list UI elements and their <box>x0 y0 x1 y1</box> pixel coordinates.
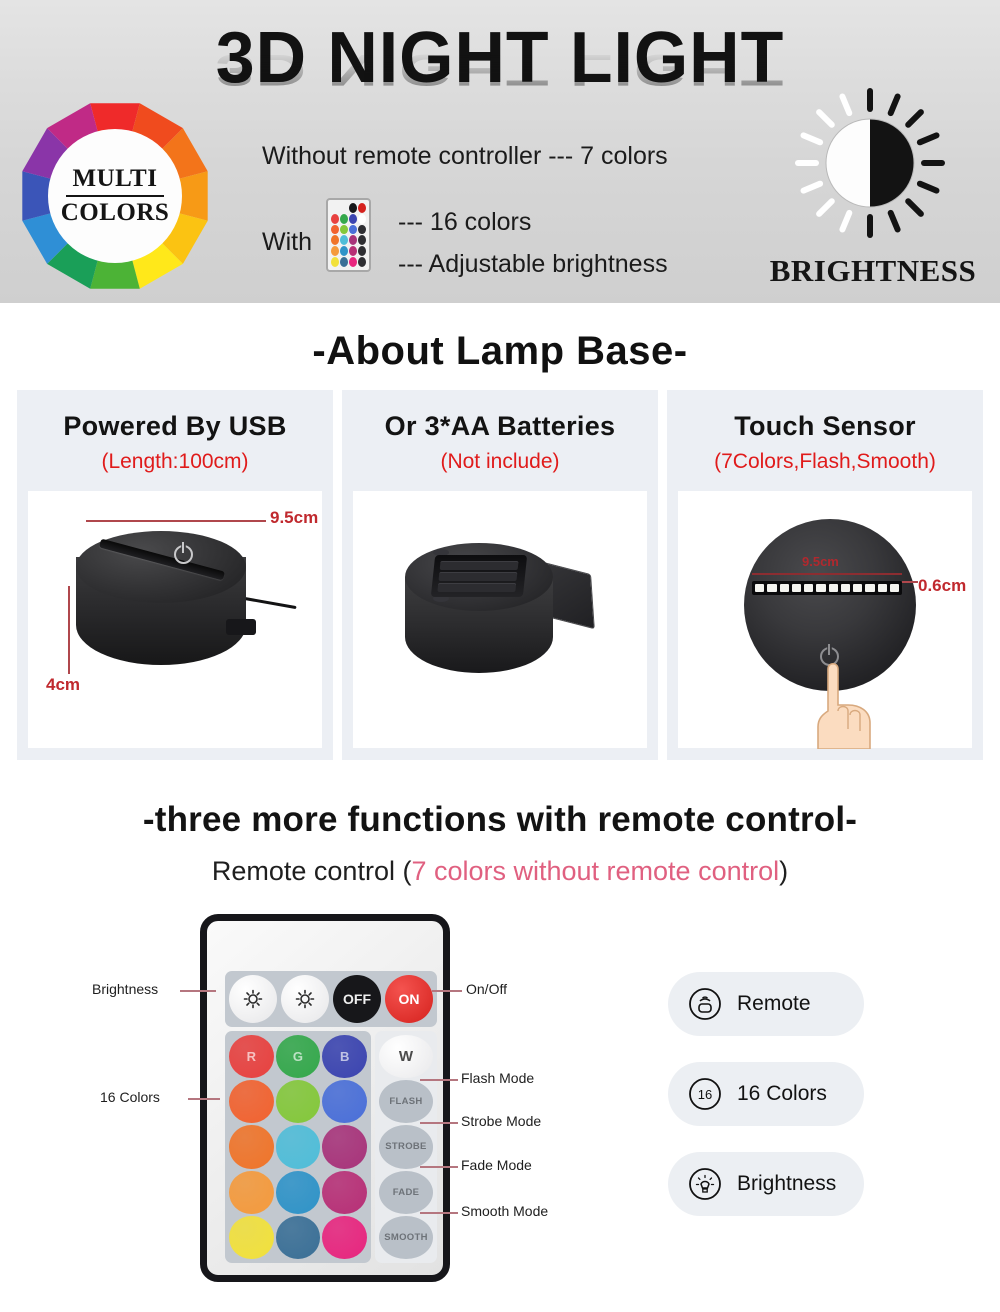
sixteen-circle-icon: 16 <box>688 1077 722 1111</box>
half-sun-brightness-icon <box>772 88 968 238</box>
color-button[interactable] <box>229 1216 274 1259</box>
callout-line <box>420 1079 458 1081</box>
sun-ray <box>920 184 937 191</box>
power-off-button[interactable]: OFF <box>333 975 381 1023</box>
battery-lamp-base-photo <box>353 491 647 748</box>
color-button[interactable]: B <box>322 1035 367 1078</box>
note-highlight: 7 colors without remote control <box>411 856 779 886</box>
callout-line <box>420 1166 458 1168</box>
battery-slot <box>440 561 519 570</box>
mini-remote-button <box>340 235 348 245</box>
note-suffix: ) <box>779 856 788 886</box>
note-prefix: Remote control ( <box>212 856 412 886</box>
button-label: ON <box>399 991 420 1007</box>
inner-width-label: 9.5cm <box>802 554 839 569</box>
color-button-label: B <box>340 1049 349 1064</box>
color-button[interactable] <box>276 1125 321 1168</box>
brightness-up-icon-glyph <box>242 988 264 1010</box>
three-more-functions-title: -three more functions with remote contro… <box>0 800 1000 840</box>
sun-ray <box>819 201 832 214</box>
mini-remote-button <box>331 225 339 235</box>
lamp-base-card-usb: Powered By USB (Length:100cm) 9.5cm 4cm <box>17 390 333 760</box>
color-button[interactable] <box>229 1125 274 1168</box>
brightness-word: BRIGHTNESS <box>758 253 988 289</box>
color-button[interactable] <box>276 1171 321 1214</box>
brightness-down-icon[interactable] <box>281 975 329 1023</box>
badge-line-2: COLORS <box>61 200 170 226</box>
button-label: STROBE <box>385 1141 426 1152</box>
remote-control-note: Remote control (7 colors without remote … <box>0 856 1000 887</box>
pill-label: Remote <box>737 992 811 1016</box>
brightness-up-icon[interactable] <box>229 975 277 1023</box>
card-heading: Powered By USB <box>63 411 286 442</box>
callout-fade-mode: Fade Mode <box>461 1157 532 1173</box>
led-segment <box>804 584 813 592</box>
color-button[interactable] <box>322 1171 367 1214</box>
width-dimension-label: 9.5cm <box>270 508 318 528</box>
mini-remote-button <box>358 225 366 235</box>
mini-remote-button <box>340 225 348 235</box>
mini-remote-button <box>349 203 357 213</box>
led-segment <box>755 584 764 592</box>
callout-line <box>432 990 462 992</box>
mini-remote-button <box>349 235 357 245</box>
color-button[interactable] <box>229 1171 274 1214</box>
height-dimension-label: 4cm <box>46 675 80 695</box>
sun-ray <box>804 135 821 142</box>
sun-ray <box>908 112 921 125</box>
led-segment <box>829 584 838 592</box>
mini-remote-button <box>331 214 339 224</box>
led-segment <box>878 584 887 592</box>
mini-remote-button <box>358 214 366 224</box>
page-title-reflection: 3D NIGHT LIGHT <box>15 47 985 92</box>
mode-button-flash[interactable]: FLASH <box>379 1080 433 1123</box>
mini-remote-button <box>358 246 366 256</box>
card-subtext: (Length:100cm) <box>101 450 248 474</box>
callout-flash-mode: Flash Mode <box>461 1070 534 1086</box>
mini-remote-button <box>340 214 348 224</box>
pointing-hand-icon <box>804 653 882 749</box>
callout-strobe-mode: Strobe Mode <box>461 1113 541 1129</box>
height-dimension-line <box>68 586 70 674</box>
with-16-colors-line: --- 16 colors <box>398 208 531 237</box>
color-button-label: R <box>247 1049 256 1064</box>
mini-remote-button <box>349 246 357 256</box>
mini-remote-button <box>340 203 348 213</box>
color-button[interactable] <box>276 1216 321 1259</box>
sun-ray <box>908 201 921 214</box>
mode-button-fade[interactable]: FADE <box>379 1171 433 1214</box>
led-segment <box>816 584 825 592</box>
battery-slot <box>438 572 517 581</box>
color-button[interactable] <box>229 1080 274 1123</box>
brightness-down-icon-glyph <box>294 988 316 1010</box>
battery-slot <box>437 583 516 592</box>
mini-remote-button <box>358 257 366 267</box>
led-segment <box>780 584 789 592</box>
button-label: SMOOTH <box>384 1232 428 1243</box>
led-segment <box>890 584 899 592</box>
callout-line <box>188 1098 220 1100</box>
callout-on-off: On/Off <box>466 981 507 997</box>
sun-ray <box>819 112 832 125</box>
mini-remote-icon <box>326 198 371 272</box>
acrylic-panel-slot <box>99 539 225 581</box>
callout-brightness: Brightness <box>92 981 158 997</box>
with-brightness-line: --- Adjustable brightness <box>398 250 668 279</box>
sun-ray <box>920 135 937 142</box>
feature-pill-remote[interactable]: Remote <box>668 972 864 1036</box>
badge-line-1: MULTI <box>73 166 158 192</box>
mode-button-smooth[interactable]: SMOOTH <box>379 1216 433 1259</box>
width-dimension-line <box>86 520 266 522</box>
battery-base-3d <box>405 543 601 701</box>
button-label: FADE <box>393 1187 420 1198</box>
color-button[interactable] <box>322 1080 367 1123</box>
battery-compartment <box>431 555 527 597</box>
remote-mode-button-column[interactable]: WFLASHSTROBEFADESMOOTH <box>375 1031 437 1263</box>
lamp-base-top <box>76 531 246 603</box>
callout-line <box>420 1212 458 1214</box>
mini-remote-button <box>340 257 348 267</box>
mini-remote-button <box>331 257 339 267</box>
color-button[interactable]: G <box>276 1035 321 1078</box>
callout-16-colors: 16 Colors <box>100 1089 160 1105</box>
multi-colors-badge: MULTI COLORS <box>48 129 182 263</box>
usb-lamp-base-photo: 9.5cm 4cm <box>28 491 322 748</box>
led-segment <box>853 584 862 592</box>
remote-color-button-grid[interactable]: RGB <box>225 1031 371 1263</box>
thickness-dimension-line <box>902 581 918 583</box>
card-heading: Or 3*AA Batteries <box>385 411 616 442</box>
mini-remote-button <box>349 225 357 235</box>
color-button[interactable] <box>322 1125 367 1168</box>
power-symbol-stem <box>182 542 184 553</box>
color-button-label: G <box>293 1049 303 1064</box>
touch-sensor-lamp-base-photo: 9.5cm 0.6cm <box>678 491 972 748</box>
svg-text:16: 16 <box>698 1087 712 1102</box>
mini-remote-button <box>331 235 339 245</box>
lamp-base-card-batteries: Or 3*AA Batteries (Not include) <box>342 390 658 760</box>
sun-ray <box>842 97 849 114</box>
usb-plug <box>226 619 256 635</box>
remote-top-button-row[interactable]: OFFON <box>225 971 437 1027</box>
sun-ray <box>842 213 849 230</box>
card-subtext: (Not include) <box>440 450 559 474</box>
led-segment <box>841 584 850 592</box>
color-button[interactable] <box>276 1080 321 1123</box>
callout-line <box>420 1122 458 1124</box>
button-label: OFF <box>343 991 371 1007</box>
with-label: With <box>262 228 312 257</box>
color-wheel-icon: MULTI COLORS <box>17 98 213 294</box>
white-color-button[interactable]: W <box>379 1035 433 1078</box>
feature-pill-16-colors[interactable]: 16 16 Colors <box>668 1062 864 1126</box>
sun-ray <box>891 97 898 114</box>
button-label: FLASH <box>389 1096 422 1107</box>
thickness-dimension-label: 0.6cm <box>918 576 966 596</box>
power-on-button[interactable]: ON <box>385 975 433 1023</box>
button-label: W <box>399 1048 413 1065</box>
callout-line <box>180 990 216 992</box>
hero-header-band: 3D NIGHT LIGHT 3D NIGHT LIGHT MULTI COLO… <box>0 0 1000 303</box>
led-strip <box>752 581 902 595</box>
sun-ray <box>804 184 821 191</box>
feature-pill-brightness[interactable]: Brightness <box>668 1152 864 1216</box>
bulb-brightness-icon <box>688 1167 722 1201</box>
color-button[interactable] <box>322 1216 367 1259</box>
lamp-base-card-touch-sensor: Touch Sensor (7Colors,Flash,Smooth) 9.5c… <box>667 390 983 760</box>
mini-remote-button <box>349 214 357 224</box>
card-subtext: (7Colors,Flash,Smooth) <box>714 450 936 474</box>
lamp-base-3d <box>76 531 246 686</box>
callout-smooth-mode: Smooth Mode <box>461 1203 548 1219</box>
mini-remote-button <box>349 257 357 267</box>
led-segment <box>865 584 874 592</box>
color-button[interactable]: R <box>229 1035 274 1078</box>
remote-signal-icon <box>688 987 722 1021</box>
inner-width-line <box>752 573 902 575</box>
mini-remote-button <box>358 235 366 245</box>
sun-ray <box>891 213 898 230</box>
pill-label: 16 Colors <box>737 1082 827 1106</box>
badge-divider <box>66 195 164 197</box>
led-segment <box>767 584 776 592</box>
led-segment <box>792 584 801 592</box>
lamp-base-card-list: Powered By USB (Length:100cm) 9.5cm 4cm … <box>17 390 983 760</box>
mini-remote-button <box>340 246 348 256</box>
mode-button-strobe[interactable]: STROBE <box>379 1125 433 1168</box>
mini-remote-button <box>358 203 366 213</box>
card-heading: Touch Sensor <box>734 411 916 442</box>
remote-control-device[interactable]: OFFON RGB WFLASHSTROBEFADESMOOTH <box>200 914 450 1282</box>
battery-base-top <box>405 543 553 611</box>
without-remote-line: Without remote controller --- 7 colors <box>262 142 668 171</box>
mini-remote-button <box>331 203 339 213</box>
pill-label: Brightness <box>737 1172 836 1196</box>
about-lamp-base-title: -About Lamp Base- <box>0 329 1000 374</box>
mini-remote-button <box>331 246 339 256</box>
